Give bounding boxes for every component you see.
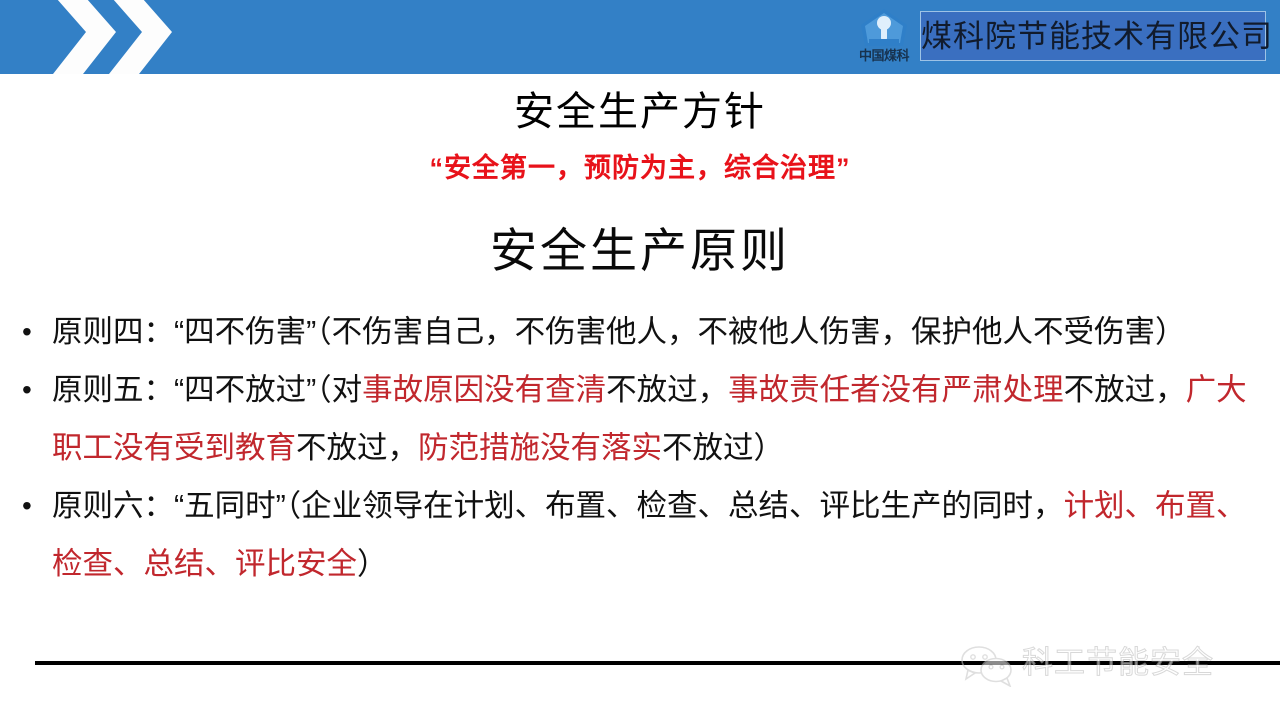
logo-caption: 中国煤科: [845, 49, 923, 63]
double-chevron-right-icon: [42, 0, 192, 74]
watermark-text: 科工节能安全: [1022, 642, 1214, 684]
wechat-watermark: 科工节能安全: [960, 641, 1260, 689]
plain-run: ）: [357, 547, 388, 581]
header-band: 中国煤科 煤科院节能技术有限公司: [0, 0, 1280, 74]
highlighted-run: 事故原因没有查清: [362, 373, 606, 407]
company-name: 煤科院节能技术有限公司: [921, 17, 1265, 57]
highlighted-run: 事故责任者没有严肃处理: [728, 373, 1064, 407]
section-title: 安全生产原则: [0, 222, 1280, 282]
list-item: • 原则六：“五同时”（企业领导在计划、布置、检查、总结、评比生产的同时，计划、…: [14, 477, 1264, 593]
list-item: • 原则五：“四不放过”（对事故原因没有查清不放过，事故责任者没有严肃处理不放过…: [14, 361, 1264, 477]
plain-run: 原则五：“四不放过”（对: [52, 373, 362, 407]
bullet-marker: •: [22, 303, 32, 361]
principles-list: • 原则四：“四不伤害”（不伤害自己，不伤害他人，不被他人伤害，保护他人不受伤害…: [14, 303, 1264, 593]
bullet-marker: •: [22, 361, 32, 419]
company-name-box: 煤科院节能技术有限公司: [920, 11, 1266, 61]
list-item: • 原则四：“四不伤害”（不伤害自己，不伤害他人，不被他人伤害，保护他人不受伤害…: [14, 303, 1264, 361]
wechat-icon: [960, 645, 1016, 692]
list-item-text: 原则六：“五同时”（企业领导在计划、布置、检查、总结、评比生产的同时，计划、布置…: [52, 489, 1247, 581]
corporate-logo: 中国煤科: [845, 6, 923, 70]
policy-slogan: “安全第一，预防为主，综合治理”: [0, 150, 1280, 186]
plain-run: 不放过）: [662, 431, 784, 465]
plain-run: 不放过，: [296, 431, 418, 465]
list-item-text: 原则五：“四不放过”（对事故原因没有查清不放过，事故责任者没有严肃处理不放过，广…: [52, 373, 1247, 465]
slide-canvas: 中国煤科 煤科院节能技术有限公司 安全生产方针 “安全第一，预防为主，综合治理”…: [0, 0, 1280, 720]
list-item-text: 原则四：“四不伤害”（不伤害自己，不伤害他人，不被他人伤害，保护他人不受伤害）: [52, 315, 1186, 349]
bullet-marker: •: [22, 477, 32, 535]
plain-run: 原则四：“四不伤害”（不伤害自己，不伤害他人，不被他人伤害，保护他人不受伤害）: [52, 315, 1186, 349]
plain-run: 不放过，: [1064, 373, 1186, 407]
plain-run: 不放过，: [606, 373, 728, 407]
page-title: 安全生产方针: [0, 88, 1280, 136]
highlighted-run: 防范措施没有落实: [418, 431, 662, 465]
plain-run: 原则六：“五同时”（企业领导在计划、布置、检查、总结、评比生产的同时，: [52, 489, 1064, 523]
